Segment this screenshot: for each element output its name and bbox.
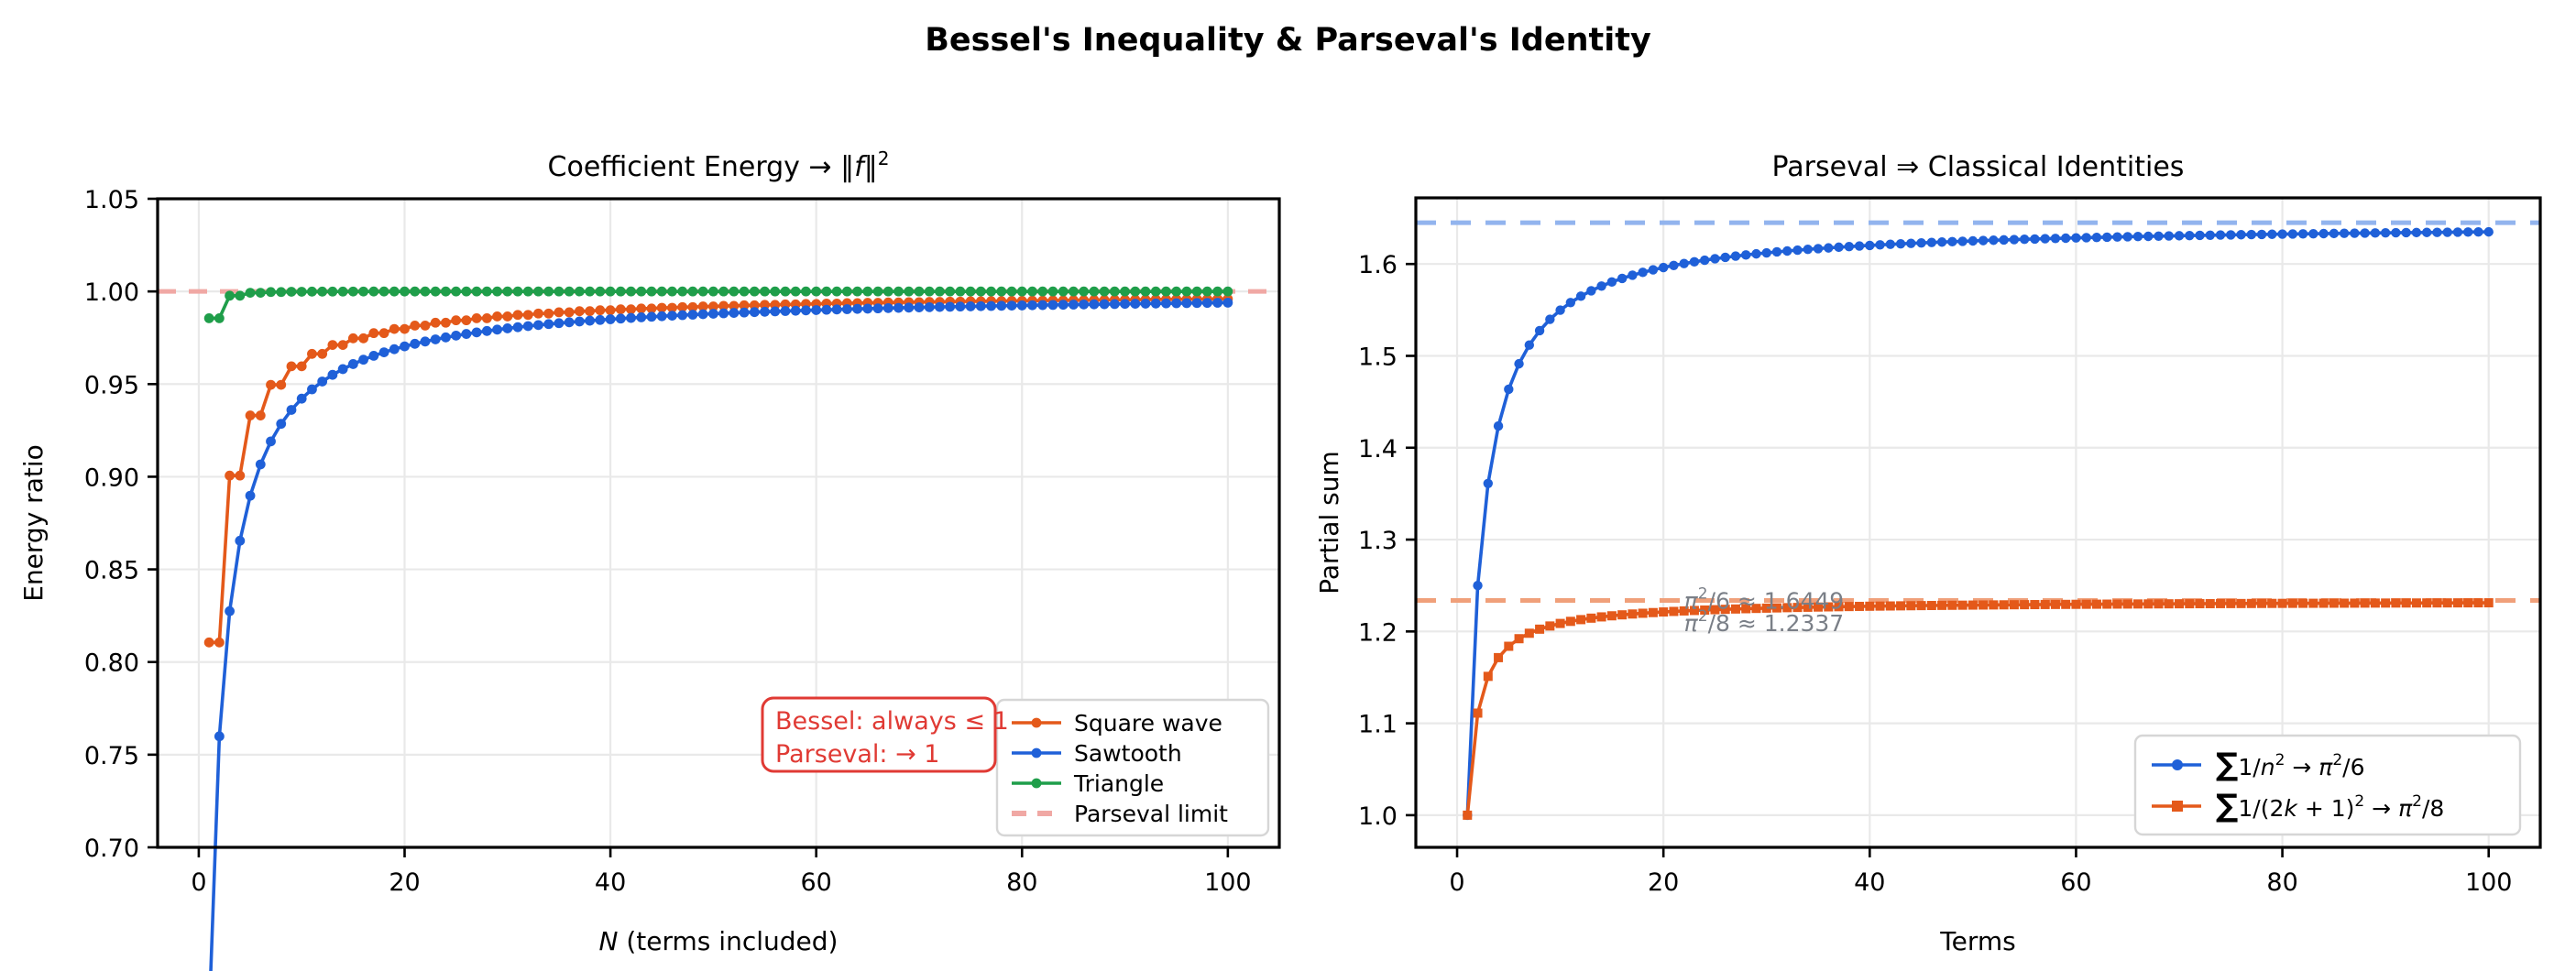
data-point <box>1617 610 1627 619</box>
data-point <box>1058 287 1069 297</box>
data-point <box>616 304 626 314</box>
data-point <box>688 287 698 297</box>
data-point <box>1192 298 1202 308</box>
data-point <box>2020 235 2029 244</box>
data-point <box>750 307 760 317</box>
data-point <box>1958 601 1968 610</box>
data-point <box>338 287 348 297</box>
data-point <box>1556 619 1565 628</box>
data-point <box>2298 599 2307 608</box>
data-point <box>2340 229 2349 238</box>
data-point <box>410 321 420 331</box>
y-tick-label: 1.05 <box>84 186 139 214</box>
data-point <box>1659 607 1668 616</box>
x-axis-label: Terms <box>1939 926 2015 956</box>
data-point <box>2112 232 2121 241</box>
data-point <box>1141 299 1151 309</box>
x-tick-label: 20 <box>1648 868 1679 897</box>
data-point <box>606 314 616 324</box>
data-point <box>2350 228 2359 237</box>
data-point <box>1947 237 1957 246</box>
data-point <box>2206 599 2215 608</box>
legend-right[interactable]: ∑1/n2 → π2/6∑1/(2k + 1)2 → π2/8 <box>2135 736 2520 835</box>
data-point <box>2257 599 2266 608</box>
data-point <box>441 287 451 297</box>
data-point <box>1110 287 1120 297</box>
data-point <box>595 305 605 315</box>
data-point <box>1979 235 1988 245</box>
data-point <box>482 313 492 323</box>
data-point <box>677 311 687 321</box>
data-point <box>421 321 431 331</box>
data-point <box>1979 600 1988 609</box>
data-point <box>1120 287 1130 297</box>
data-point <box>1989 600 1998 609</box>
data-point <box>1649 608 1658 617</box>
data-point <box>1751 249 1760 258</box>
data-point <box>358 355 368 365</box>
identity-annotation-1: π2/8 ≈ 1.2337 <box>1684 607 1845 637</box>
data-point <box>852 304 862 314</box>
data-point <box>400 342 410 352</box>
data-point <box>1762 248 1771 257</box>
data-point <box>1212 298 1222 308</box>
data-point <box>2102 233 2111 242</box>
data-point <box>1504 385 1513 394</box>
data-point <box>246 491 256 501</box>
data-point <box>389 344 400 355</box>
data-point <box>1855 602 1864 611</box>
data-point <box>606 287 616 297</box>
y-tick-label: 1.6 <box>1358 251 1398 279</box>
data-point <box>647 311 657 322</box>
y-tick-label: 1.4 <box>1358 435 1398 464</box>
data-point <box>955 301 965 311</box>
x-tick-label: 100 <box>1204 868 1252 897</box>
data-point <box>925 302 935 312</box>
data-point <box>801 305 811 315</box>
data-point <box>410 339 420 349</box>
data-point <box>513 322 523 333</box>
data-point <box>2143 232 2153 241</box>
data-point <box>2041 600 2050 609</box>
data-point <box>883 303 893 313</box>
legend-label: Sawtooth <box>1074 740 1182 767</box>
data-point <box>379 287 389 297</box>
data-point <box>1192 287 1202 297</box>
data-point <box>822 287 832 297</box>
y-tick-label: 1.2 <box>1358 618 1398 647</box>
data-point <box>246 410 256 420</box>
data-point <box>2185 231 2194 240</box>
y-tick-label: 1.3 <box>1358 527 1398 555</box>
data-point <box>1772 247 1781 256</box>
legend-label: Parseval limit <box>1074 801 1228 827</box>
data-point <box>225 290 235 300</box>
data-point <box>2308 599 2318 608</box>
data-point <box>1875 240 1884 249</box>
legend-marker <box>1032 718 1042 728</box>
series-sawtooth <box>209 298 1233 971</box>
data-point <box>1886 240 1895 249</box>
data-point <box>2175 599 2184 608</box>
data-point <box>1089 300 1099 310</box>
data-point <box>2257 230 2266 239</box>
data-point <box>225 606 235 616</box>
data-point <box>451 315 461 325</box>
data-point <box>1566 298 1575 307</box>
data-point <box>2154 599 2163 608</box>
data-point <box>2484 598 2494 607</box>
data-point <box>389 287 400 297</box>
data-point <box>2340 598 2349 607</box>
data-point <box>400 324 410 334</box>
data-point <box>2247 230 2256 239</box>
data-point <box>657 287 667 297</box>
data-point <box>1525 340 1534 349</box>
data-point <box>2319 599 2329 608</box>
data-point <box>2361 598 2370 607</box>
data-point <box>2102 600 2111 609</box>
y-tick-label: 0.80 <box>84 649 139 678</box>
data-point <box>1007 287 1017 297</box>
data-point <box>389 324 400 334</box>
data-point <box>1906 238 1915 247</box>
data-point <box>2195 231 2204 240</box>
legend-left[interactable]: Square waveSawtoothTriangleParseval limi… <box>997 700 1268 835</box>
data-point <box>904 302 914 312</box>
data-point <box>915 302 925 312</box>
data-point <box>1886 602 1895 611</box>
data-point <box>1079 300 1089 310</box>
data-point <box>2071 234 2080 243</box>
data-point <box>256 410 266 420</box>
data-point <box>482 287 492 297</box>
data-point <box>2463 227 2472 236</box>
data-point <box>1069 300 1079 310</box>
data-point <box>1824 243 1833 252</box>
data-point <box>760 307 770 317</box>
data-point <box>1027 300 1037 311</box>
data-point <box>1876 602 1885 611</box>
data-point <box>225 471 235 481</box>
data-point <box>2175 231 2184 240</box>
data-point <box>2237 599 2246 608</box>
data-point <box>2412 228 2421 237</box>
data-point <box>2422 598 2431 607</box>
data-point <box>1089 287 1099 297</box>
data-point <box>421 336 431 346</box>
data-point <box>1917 601 1926 610</box>
x-tick-label: 0 <box>1449 868 1464 897</box>
data-point <box>256 460 266 470</box>
data-point <box>523 287 533 297</box>
data-point <box>554 308 565 318</box>
data-point <box>2010 600 2019 609</box>
data-point <box>976 301 986 311</box>
data-point <box>750 287 760 297</box>
data-point <box>2020 600 2029 609</box>
data-point <box>1845 602 1854 611</box>
data-point <box>1927 601 1936 610</box>
data-point <box>338 365 348 375</box>
data-point <box>2329 229 2339 238</box>
data-point <box>1999 235 2008 245</box>
data-point <box>400 287 410 297</box>
data-point <box>2247 599 2256 608</box>
data-point <box>873 287 883 297</box>
data-point <box>647 287 657 297</box>
data-point <box>204 638 214 648</box>
data-point <box>348 359 358 369</box>
data-point <box>698 310 708 320</box>
data-point <box>1463 811 1472 820</box>
data-point <box>1865 241 1874 250</box>
data-point <box>1638 267 1647 277</box>
data-point <box>235 290 245 300</box>
y-axis-label: Partial sum <box>1314 451 1344 595</box>
data-point <box>2061 234 2070 243</box>
data-point <box>832 304 842 314</box>
data-point <box>2360 228 2369 237</box>
data-point <box>1607 278 1617 287</box>
data-point <box>1639 608 1648 617</box>
data-point <box>852 287 862 297</box>
y-tick-label: 1.1 <box>1358 711 1398 739</box>
data-point <box>575 306 585 316</box>
data-point <box>1679 259 1688 268</box>
annotation-line: Bessel: always ≤ 1 <box>775 707 1009 736</box>
data-point <box>2133 599 2143 608</box>
data-point <box>502 311 512 322</box>
data-point <box>1151 287 1161 297</box>
data-point <box>1484 671 1493 681</box>
data-point <box>2051 600 2060 609</box>
data-point <box>986 301 996 311</box>
data-point <box>2112 599 2121 608</box>
data-point <box>214 313 225 323</box>
data-point <box>2133 232 2143 241</box>
data-point <box>266 287 276 297</box>
data-point <box>1037 300 1047 311</box>
chart-panel-left: 0204060801000.700.750.800.850.900.951.00… <box>0 0 1301 971</box>
data-point <box>1916 238 1925 247</box>
data-point <box>1906 601 1915 610</box>
data-point <box>595 315 605 325</box>
data-point <box>421 287 431 297</box>
data-point <box>2350 598 2359 607</box>
data-point <box>2196 599 2205 608</box>
data-point <box>636 312 646 322</box>
data-point <box>2226 599 2235 608</box>
data-point <box>2092 600 2101 609</box>
data-point <box>1494 421 1503 431</box>
data-point <box>667 311 677 321</box>
data-point <box>287 287 297 297</box>
data-point <box>2216 230 2225 239</box>
data-point <box>2165 599 2174 608</box>
data-point <box>1474 708 1483 717</box>
data-point <box>461 315 471 325</box>
data-point <box>996 300 1006 311</box>
data-point <box>1473 581 1482 590</box>
x-tick-label: 100 <box>2465 868 2513 897</box>
data-point <box>2371 228 2380 237</box>
y-tick-label: 0.95 <box>84 371 139 399</box>
data-point <box>1896 239 1905 248</box>
data-point <box>2401 228 2410 237</box>
data-point <box>1617 274 1627 283</box>
data-point <box>575 317 585 327</box>
data-point <box>1161 287 1171 297</box>
data-point <box>626 287 636 297</box>
data-point <box>1202 287 1212 297</box>
data-point <box>729 308 739 318</box>
data-point <box>533 287 543 297</box>
data-point <box>1161 299 1171 309</box>
subplot-title: Parseval ⇒ Classical Identities <box>1772 151 2185 183</box>
data-point <box>543 287 554 297</box>
data-point <box>595 287 605 297</box>
data-point <box>565 287 575 297</box>
x-tick-label: 80 <box>2266 868 2297 897</box>
data-point <box>893 287 904 297</box>
legend-marker <box>2172 759 2183 770</box>
data-point <box>2071 600 2080 609</box>
data-point <box>760 287 770 297</box>
data-point <box>688 310 698 320</box>
data-point <box>585 316 595 326</box>
data-point <box>1130 299 1140 309</box>
y-tick-label: 0.90 <box>84 464 139 492</box>
data-point <box>451 287 461 297</box>
data-point <box>740 308 750 318</box>
data-point <box>2453 227 2462 236</box>
data-point <box>2061 600 2070 609</box>
x-tick-label: 20 <box>389 868 420 897</box>
data-point <box>1700 256 1709 265</box>
data-point <box>441 318 451 328</box>
data-point <box>2308 229 2318 238</box>
data-point <box>1079 287 1089 297</box>
data-point <box>945 287 955 297</box>
data-point <box>2318 229 2328 238</box>
data-point <box>770 307 780 317</box>
data-point <box>276 287 286 297</box>
data-point <box>1100 287 1110 297</box>
data-point <box>431 334 441 344</box>
y-tick-label: 1.5 <box>1358 343 1398 371</box>
data-point <box>276 380 286 390</box>
x-tick-label: 0 <box>191 868 206 897</box>
data-point <box>533 320 543 330</box>
data-point <box>307 287 317 297</box>
data-point <box>791 287 801 297</box>
data-point <box>235 471 245 481</box>
data-point <box>1628 609 1637 618</box>
data-point <box>1484 479 1493 488</box>
data-point <box>2082 600 2091 609</box>
data-point <box>2473 598 2483 607</box>
data-point <box>554 287 565 297</box>
data-point <box>317 287 327 297</box>
data-point <box>585 306 595 316</box>
data-point <box>862 287 872 297</box>
data-point <box>945 301 955 311</box>
data-point <box>358 287 368 297</box>
data-point <box>368 287 378 297</box>
data-point <box>2402 598 2411 607</box>
data-point <box>502 287 512 297</box>
legend-label: Triangle <box>1073 770 1164 797</box>
data-point <box>842 304 852 314</box>
data-point <box>2288 599 2297 608</box>
figure-root: Bessel's Inequality & Parseval's Identit… <box>0 0 2576 971</box>
legend-label: Square wave <box>1074 710 1222 736</box>
data-point <box>451 331 461 341</box>
data-point <box>1037 287 1047 297</box>
data-point <box>2442 227 2451 236</box>
data-point <box>1141 287 1151 297</box>
data-point <box>770 287 780 297</box>
data-point <box>1855 241 1864 250</box>
data-point <box>565 308 575 318</box>
data-point <box>1525 628 1534 638</box>
data-point <box>2484 227 2494 236</box>
data-point <box>2453 598 2462 607</box>
data-point <box>657 311 667 322</box>
x-tick-label: 40 <box>1854 868 1885 897</box>
data-point <box>1535 326 1544 335</box>
data-point <box>297 361 307 371</box>
data-point <box>266 436 276 446</box>
left-chart-svg: 0204060801000.700.750.800.850.900.951.00… <box>0 0 1301 971</box>
data-point <box>492 311 502 322</box>
data-point <box>2443 598 2452 607</box>
data-point <box>626 313 636 323</box>
data-point <box>502 323 512 333</box>
data-point <box>565 317 575 327</box>
data-point <box>1669 606 1678 616</box>
data-point <box>379 347 389 357</box>
x-tick-label: 60 <box>2060 868 2091 897</box>
data-point <box>327 340 337 350</box>
data-point <box>935 302 945 312</box>
data-point <box>708 309 718 319</box>
legend-marker <box>1032 748 1042 758</box>
bessel-parseval-annotation: Bessel: always ≤ 1Parseval: → 1 <box>762 698 1009 771</box>
data-point <box>1607 611 1617 620</box>
y-axis-label: Energy ratio <box>18 444 49 602</box>
data-point <box>235 536 245 546</box>
data-point <box>1597 612 1606 621</box>
data-point <box>287 405 297 415</box>
x-tick-label: 80 <box>1006 868 1037 897</box>
data-point <box>996 287 1006 297</box>
data-point <box>2473 227 2483 236</box>
data-point <box>368 328 378 338</box>
data-point <box>1947 601 1957 610</box>
data-point <box>1182 287 1192 297</box>
data-point <box>1007 300 1017 311</box>
data-point <box>2154 232 2163 241</box>
data-point <box>1937 601 1946 610</box>
data-point <box>1814 244 1823 253</box>
data-point <box>1048 300 1058 310</box>
data-point <box>1576 615 1585 624</box>
data-point <box>1171 287 1181 297</box>
data-point <box>1182 298 1192 308</box>
